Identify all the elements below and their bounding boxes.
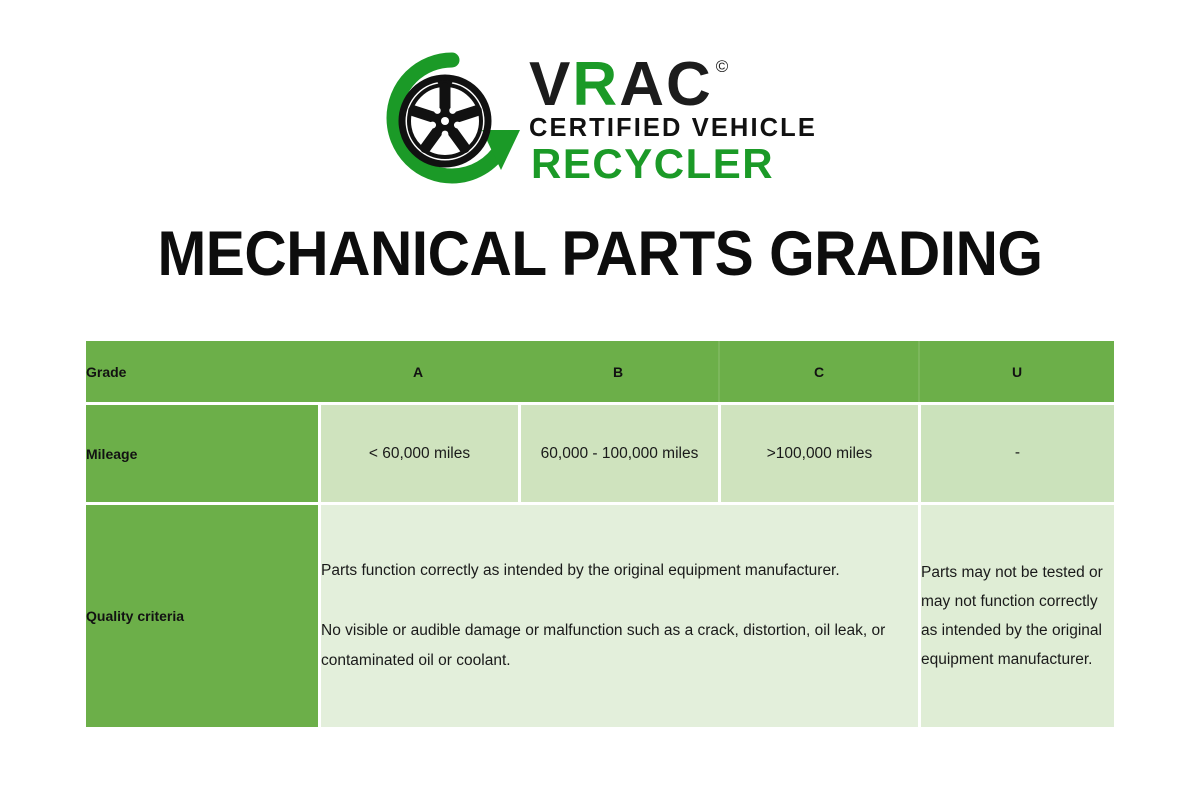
logo-vrac-text: VRAC© (529, 56, 730, 113)
table-row-mileage: Mileage < 60,000 miles 60,000 - 100,000 … (86, 402, 1114, 502)
logo-letter-v: V (529, 56, 572, 113)
logo-recycler-text: RECYCLER (531, 143, 774, 186)
header-grade-b: B (518, 341, 718, 402)
brand-logo: VRAC© CERTIFIED VEHICLE RECYCLER (0, 42, 1200, 202)
mechanical-parts-grading-table: Grade A B C U Mileage < 60,000 miles 60,… (86, 341, 1114, 727)
mileage-grade-u: - (918, 402, 1114, 502)
header-grade-u: U (918, 341, 1114, 402)
quality-paragraph-1: Parts function correctly as intended by … (321, 556, 918, 586)
logo-inner: VRAC© CERTIFIED VEHICLE RECYCLER (383, 42, 817, 198)
copyright-icon: © (716, 58, 731, 75)
header-grade-c: C (718, 341, 918, 402)
header-grade-label: Grade (86, 341, 318, 402)
page-title: MECHANICAL PARTS GRADING (42, 218, 1158, 290)
logo-letter-r: R (572, 56, 619, 113)
row-label-mileage: Mileage (86, 402, 318, 502)
row-label-quality-criteria: Quality criteria (86, 502, 318, 727)
mileage-grade-a: < 60,000 miles (318, 402, 518, 502)
logo-wordmark: VRAC© CERTIFIED VEHICLE RECYCLER (529, 42, 817, 186)
mileage-grade-b: 60,000 - 100,000 miles (518, 402, 718, 502)
mileage-grade-c: >100,000 miles (718, 402, 918, 502)
logo-letters-ac: AC (619, 56, 713, 113)
header-grade-a: A (318, 341, 518, 402)
quality-criteria-abc: Parts function correctly as intended by … (318, 502, 918, 727)
table-header-row: Grade A B C U (86, 341, 1114, 402)
quality-criteria-u: Parts may not be tested or may not funct… (918, 502, 1114, 727)
table-row-quality-criteria: Quality criteria Parts function correctl… (86, 502, 1114, 727)
vrac-wheel-recycling-logo-icon (383, 48, 521, 198)
quality-paragraph-2: No visible or audible damage or malfunct… (321, 616, 918, 676)
logo-tagline: CERTIFIED VEHICLE (529, 115, 817, 142)
